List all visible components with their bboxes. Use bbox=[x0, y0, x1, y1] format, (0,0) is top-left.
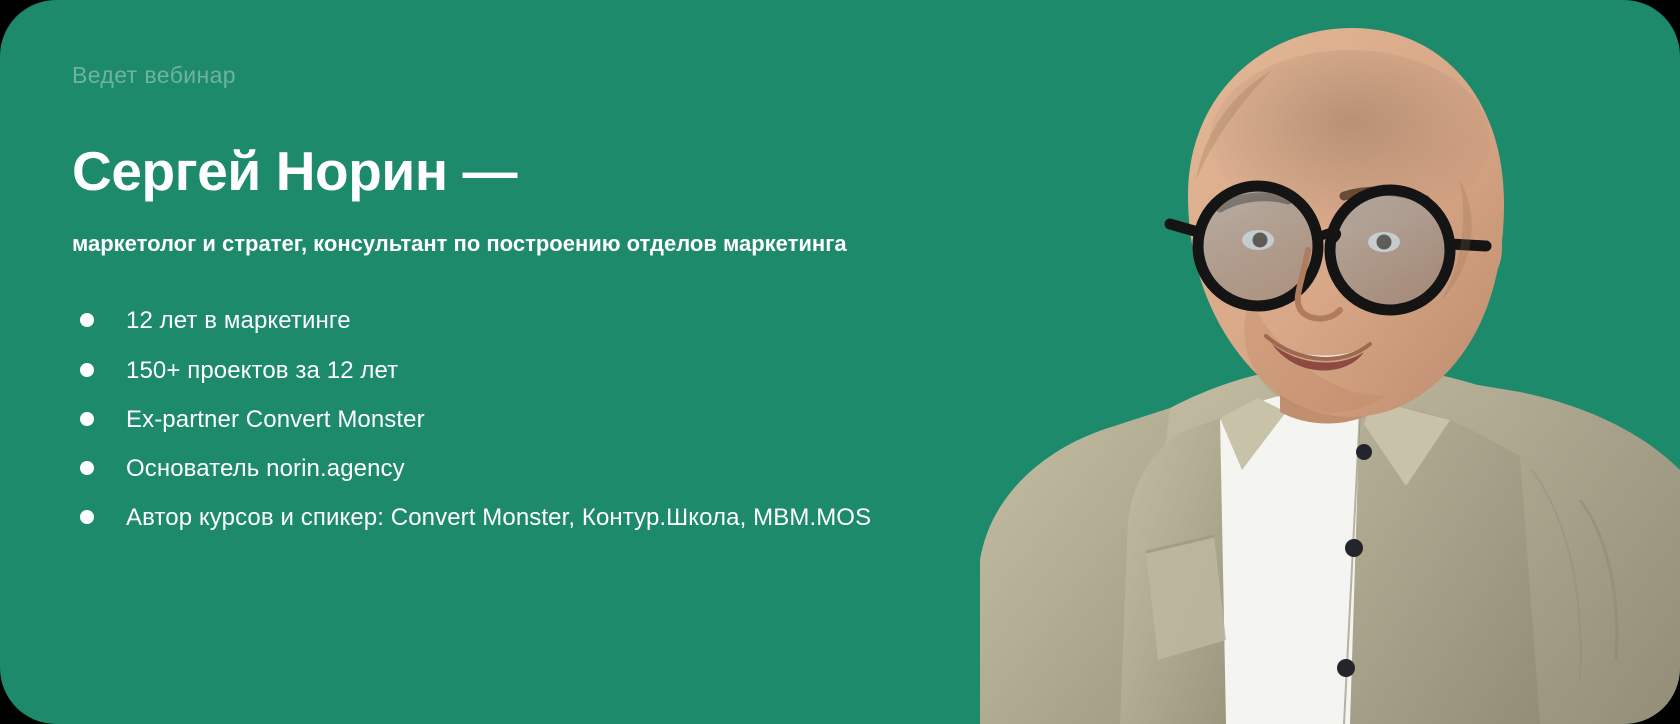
list-item: Основатель norin.agency bbox=[72, 452, 952, 486]
list-item: 12 лет в маркетинге bbox=[72, 304, 952, 338]
speaker-text-column: Ведет вебинар Сергей Норин — маркетолог … bbox=[72, 62, 952, 535]
speaker-credentials-list: 12 лет в маркетинге 150+ проектов за 12 … bbox=[72, 304, 952, 534]
list-item: 150+ проектов за 12 лет bbox=[72, 354, 952, 388]
speaker-portrait-image bbox=[920, 0, 1680, 724]
mouth bbox=[1272, 344, 1364, 371]
eyebrow-right bbox=[1344, 191, 1426, 200]
list-item-label: Ex-partner Convert Monster bbox=[126, 403, 425, 437]
bullet-dot-icon bbox=[80, 412, 94, 426]
bullet-dot-icon bbox=[80, 510, 94, 524]
speaker-name-heading: Сергей Норин — bbox=[72, 142, 952, 201]
shirt-button bbox=[1337, 659, 1355, 677]
nose bbox=[1298, 250, 1340, 319]
list-item: Автор курсов и спикер: Convert Monster, … bbox=[72, 501, 952, 535]
ear bbox=[1450, 210, 1502, 286]
portrait-illustration bbox=[920, 0, 1680, 724]
bullet-dot-icon bbox=[80, 363, 94, 377]
list-item-label: 12 лет в маркетинге bbox=[126, 304, 351, 338]
speaker-card: Ведет вебинар Сергей Норин — маркетолог … bbox=[0, 0, 1680, 724]
bullet-dot-icon bbox=[80, 461, 94, 475]
list-item: Ex-partner Convert Monster bbox=[72, 403, 952, 437]
list-item-label: Автор курсов и спикер: Convert Monster, … bbox=[126, 501, 871, 535]
shirt-button bbox=[1345, 539, 1363, 557]
eye-left bbox=[1253, 233, 1268, 248]
speaker-role-subheading: маркетолог и стратег, консультант по пос… bbox=[72, 229, 872, 258]
shirt-button bbox=[1356, 444, 1372, 460]
glasses bbox=[1170, 186, 1486, 310]
bullet-dot-icon bbox=[80, 313, 94, 327]
list-item-label: 150+ проектов за 12 лет bbox=[126, 354, 398, 388]
eye-right bbox=[1377, 235, 1392, 250]
eyebrow-label: Ведет вебинар bbox=[72, 62, 952, 90]
eyebrow-left bbox=[1220, 197, 1288, 208]
torso-group bbox=[980, 366, 1680, 724]
list-item-label: Основатель norin.agency bbox=[126, 452, 405, 486]
head bbox=[1188, 28, 1504, 417]
